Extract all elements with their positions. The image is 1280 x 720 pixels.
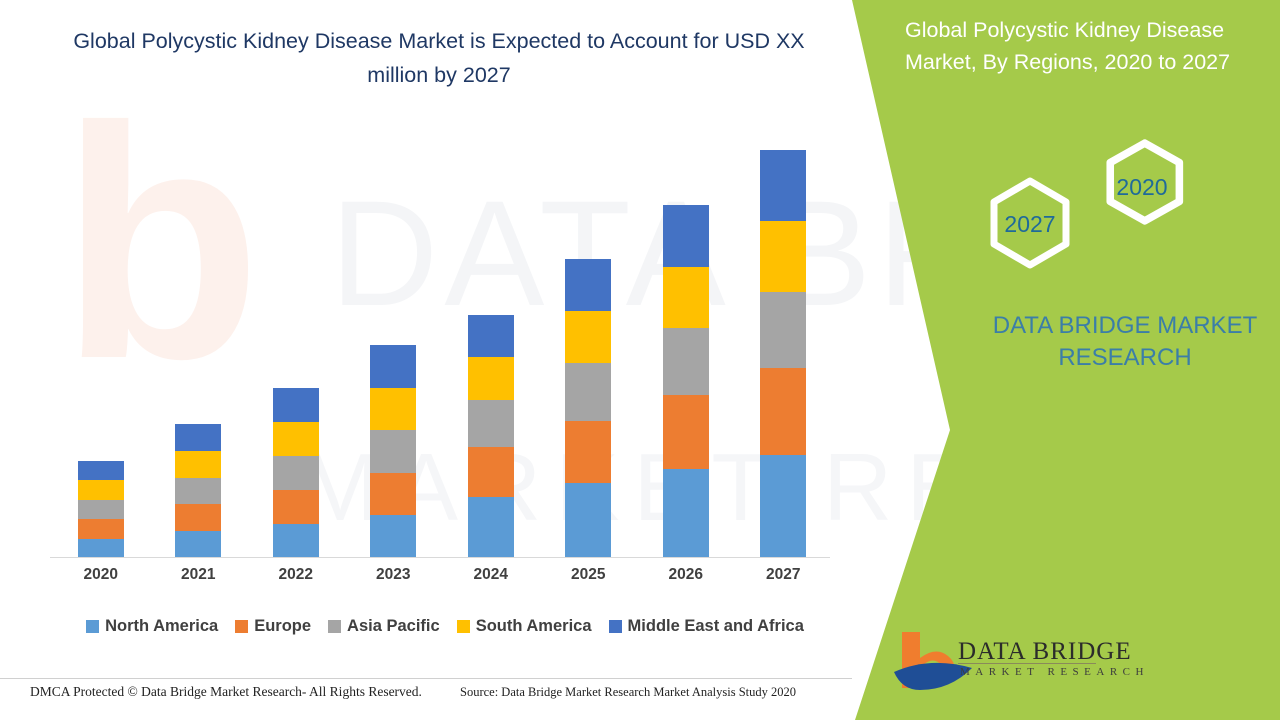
stacked-bar-2022[interactable] (273, 388, 319, 558)
footer-divider (0, 678, 852, 679)
bar-segment (78, 519, 124, 538)
bar-segment (468, 400, 514, 447)
hexagon-2020: 2020 (1110, 143, 1179, 221)
bar-segment (760, 150, 806, 221)
bar-segment (370, 388, 416, 431)
bar-segment (78, 461, 124, 480)
bar-segment (175, 424, 221, 451)
chart-title: Global Polycystic Kidney Disease Market … (54, 24, 824, 92)
x-axis-label-2022: 2022 (261, 566, 331, 584)
bar-segment (565, 311, 611, 363)
panel-title: Global Polycystic Kidney Disease Market,… (905, 14, 1265, 78)
bar-segment (273, 490, 319, 524)
bar-segment (273, 388, 319, 422)
legend-label: Europe (254, 617, 311, 636)
bar-segment (78, 480, 124, 499)
bar-segment (663, 469, 709, 558)
legend-label: Middle East and Africa (628, 617, 804, 636)
legend-swatch-icon (328, 620, 341, 633)
bar-segment (760, 221, 806, 292)
bar-segment (565, 259, 611, 311)
bar-segment (663, 205, 709, 267)
stacked-bar-2020[interactable] (78, 461, 124, 558)
footer-source: Source: Data Bridge Market Research Mark… (460, 685, 796, 700)
bar-segment (468, 357, 514, 400)
bar-segment (370, 515, 416, 558)
stacked-bar-2027[interactable] (760, 150, 806, 558)
bar-segment (370, 430, 416, 473)
bar-segment (370, 473, 416, 516)
bar-segment (78, 500, 124, 519)
legend-label: Asia Pacific (347, 617, 440, 636)
logo-underline (958, 663, 1096, 664)
legend-label: North America (105, 617, 218, 636)
bar-segment (175, 531, 221, 558)
stacked-bar-2024[interactable] (468, 315, 514, 558)
x-axis-label-2026: 2026 (651, 566, 721, 584)
bar-segment (663, 328, 709, 395)
legend-swatch-icon (86, 620, 99, 633)
bar-segment (78, 539, 124, 558)
bar-segment (273, 456, 319, 490)
stacked-bar-2021[interactable] (175, 424, 221, 558)
legend-item[interactable]: Middle East and Africa (609, 617, 804, 636)
chart-legend: North AmericaEuropeAsia PacificSouth Ame… (50, 617, 840, 636)
legend-item[interactable]: Asia Pacific (328, 617, 440, 636)
x-axis-line (50, 557, 830, 558)
bar-segment (760, 368, 806, 454)
bar-segment (760, 455, 806, 558)
footer-copyright: DMCA Protected © Data Bridge Market Rese… (30, 684, 422, 700)
x-axis-label-2021: 2021 (163, 566, 233, 584)
stacked-bar-2026[interactable] (663, 205, 709, 558)
bar-segment (175, 478, 221, 505)
legend-swatch-icon (609, 620, 622, 633)
legend-item[interactable]: North America (86, 617, 218, 636)
bar-segment (175, 504, 221, 531)
bar-segment (273, 524, 319, 558)
infographic-canvas: b DATA BRIDGE MARKET RESEARCH Global Pol… (0, 0, 1280, 720)
x-axis-label-2020: 2020 (66, 566, 136, 584)
bar-segment (273, 422, 319, 456)
x-axis-labels: 20202021202220232024202520262027 (50, 566, 830, 592)
bar-segment (468, 447, 514, 497)
x-axis-label-2027: 2027 (748, 566, 818, 584)
stacked-bar-plot (50, 120, 830, 558)
bar-segment (565, 483, 611, 558)
bar-segment (370, 345, 416, 388)
legend-item[interactable]: Europe (235, 617, 311, 636)
x-axis-label-2024: 2024 (456, 566, 526, 584)
logo-tagline: MARKET RESEARCH (960, 666, 1149, 678)
stacked-bar-2025[interactable] (565, 259, 611, 558)
hexagon-2027: 2027 (994, 181, 1066, 265)
stacked-bar-2023[interactable] (370, 345, 416, 558)
hexagon-badges: 2020 2027 (960, 128, 1210, 293)
bar-segment (663, 267, 709, 328)
hexagon-2020-label: 2020 (1116, 174, 1167, 200)
bar-segment (175, 451, 221, 478)
panel-brand-text: DATA BRIDGE MARKET RESEARCH (960, 310, 1280, 374)
hexagon-2027-label: 2027 (1004, 211, 1055, 237)
bar-segment (468, 497, 514, 558)
legend-swatch-icon (235, 620, 248, 633)
legend-swatch-icon (457, 620, 470, 633)
legend-item[interactable]: South America (457, 617, 592, 636)
x-axis-label-2023: 2023 (358, 566, 428, 584)
bar-segment (565, 421, 611, 483)
legend-label: South America (476, 617, 592, 636)
bar-segment (565, 363, 611, 420)
bar-segment (663, 395, 709, 469)
bar-segment (468, 315, 514, 358)
x-axis-label-2025: 2025 (553, 566, 623, 584)
logo-wordmark: DATA BRIDGE (958, 638, 1132, 666)
bar-segment (760, 292, 806, 369)
